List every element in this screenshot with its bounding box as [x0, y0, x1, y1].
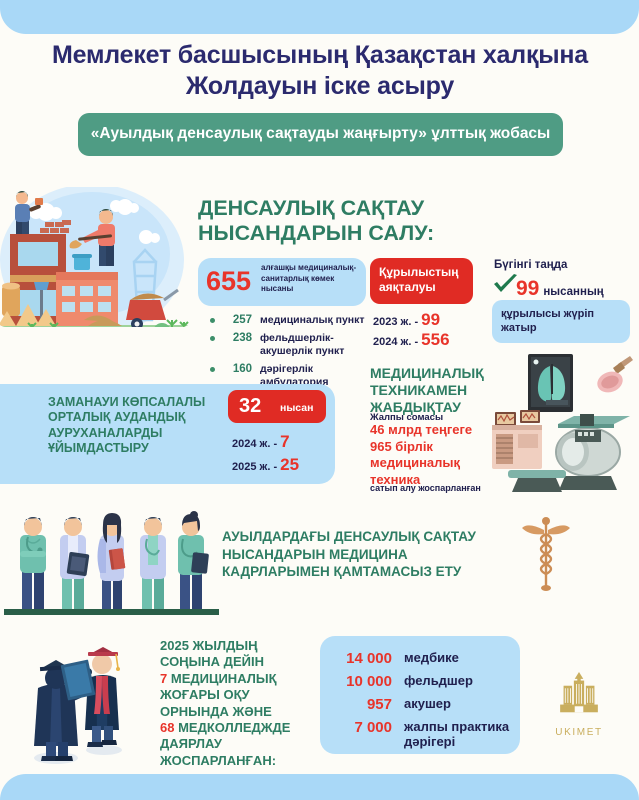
today-value: 99	[516, 277, 539, 301]
training-stats-panel: 14 000 медбике 10 000 фельдшер 957 акуше…	[320, 636, 520, 754]
training-line-1: 2025 ЖЫЛДЫҢ	[160, 638, 258, 653]
list-item: 238 фельдшерлік-акушерлік пункт	[206, 330, 376, 357]
training-line-5: ОРНЫНДА ЖӘНЕ	[160, 704, 272, 719]
today-progress-line: 99 нысанның	[492, 274, 604, 301]
bullet-dot-icon	[210, 367, 215, 372]
medical-staff-illustration	[4, 505, 219, 615]
breakdown-label: фельдшерлік-акушерлік пункт	[260, 332, 376, 357]
bullet-dot-icon	[210, 336, 215, 341]
stat-value: 10 000	[320, 673, 392, 690]
hospitals-year-value: 25	[280, 455, 299, 474]
training-line-7: ДАЯРЛАУ	[160, 736, 222, 751]
stat-label: медбике	[404, 650, 459, 665]
top-accent-band	[0, 0, 639, 34]
today-note: құрылысы жүріп жатыр	[492, 300, 630, 343]
stat-value: 14 000	[320, 650, 392, 667]
total-facilities-card: 655 алғашқы медициналық-санитарлық көмек…	[198, 258, 366, 306]
stat-value: 7 000	[320, 719, 392, 736]
hospitals-year-row: 2024 ж. - 7	[232, 432, 290, 452]
hospitals-badge-label: нысан	[280, 402, 313, 414]
facility-breakdown-list: 257 медициналық пункт 238 фельдшерлік-ак…	[206, 312, 376, 392]
completion-year-row: 2024 ж. - 556	[373, 330, 450, 350]
training-line-4: ЖОҒАРЫ ОҚУ	[160, 687, 250, 702]
list-item: 257 медициналық пункт	[206, 312, 376, 326]
stat-label: акушер	[404, 696, 451, 711]
staffing-heading: АУЫЛДАРДАҒЫ ДЕНСАУЛЫҚ САҚТАУ НЫСАНДАРЫН …	[222, 528, 497, 581]
hospitals-year-row: 2025 ж. - 25	[232, 455, 299, 475]
bottom-accent-band	[0, 774, 639, 800]
table-row: 7 000 жалпы практика дәрігері	[320, 719, 520, 749]
table-row: 14 000 медбике	[320, 650, 520, 667]
completion-badge: Құрылыстың аяқталуы	[370, 258, 473, 304]
breakdown-value: 160	[222, 363, 252, 375]
construction-illustration	[0, 182, 192, 367]
training-line-3: МЕДИЦИНАЛЫҚ	[171, 671, 277, 686]
caduceus-icon	[520, 512, 572, 594]
today-suffix: нысанның	[543, 286, 603, 298]
page-title: Мемлекет басшысының Қазақстан халқына Жо…	[40, 40, 600, 101]
table-row: 10 000 фельдшер	[320, 673, 520, 690]
stat-value: 957	[320, 696, 392, 713]
completion-year-label: 2023 ж. -	[373, 316, 418, 328]
check-icon	[492, 274, 519, 295]
hospitals-year-value: 7	[280, 432, 289, 451]
total-facilities-label: алғашқы медициналық-санитарлық көмек ныс…	[261, 263, 361, 295]
breakdown-label: медициналық пункт	[260, 314, 365, 326]
hospitals-heading: ЗАМАНАУИ КӨПСАЛАЛЫ ОРТАЛЫҚ АУДАНДЫҚ АУРУ…	[48, 395, 223, 456]
completion-year-value: 99	[421, 310, 440, 329]
training-universities-count: 7	[160, 671, 167, 686]
hospitals-year-label: 2024 ж. -	[232, 438, 277, 450]
government-building-icon	[553, 672, 605, 720]
equipment-footnote: сатып алу жоспарланған	[370, 483, 481, 493]
hospitals-badge: 32 нысан	[228, 390, 326, 423]
graduates-illustration	[8, 638, 138, 768]
table-row: 957 акушер	[320, 696, 520, 713]
training-line-8: ЖОСПАРЛАНҒАН:	[160, 753, 276, 768]
build-section-heading: ДЕНСАУЛЫҚ САҚТАУ НЫСАНДАРЫН САЛУ:	[198, 196, 498, 246]
subtitle-banner: «Ауылдық денсаулық сақтауды жаңғырту» ұл…	[78, 113, 563, 156]
training-line-2: СОҢЫНА ДЕЙІН	[160, 654, 264, 669]
today-label: Бүгінгі таңда	[494, 259, 567, 271]
completion-year-row: 2023 ж. - 99	[373, 310, 440, 330]
stat-label: жалпы практика дәрігері	[404, 719, 520, 749]
total-facilities-value: 655	[206, 266, 251, 297]
hospitals-badge-value: 32	[239, 395, 261, 418]
medical-equipment-illustration	[470, 352, 635, 497]
stat-label: фельдшер	[404, 673, 473, 688]
completion-year-value: 556	[421, 330, 449, 349]
training-line-6: МЕДКОЛЛЕДЖДЕ	[178, 720, 290, 735]
breakdown-value: 257	[222, 314, 252, 326]
branding-logo: UKIMET	[542, 672, 616, 738]
breakdown-value: 238	[222, 332, 252, 344]
bullet-dot-icon	[210, 318, 215, 323]
training-heading: 2025 ЖЫЛДЫҢ СОҢЫНА ДЕЙІН 7 МЕДИЦИНАЛЫҚ Ж…	[160, 638, 320, 769]
brand-name: UKIMET	[542, 727, 616, 738]
hospitals-year-label: 2025 ж. -	[232, 461, 277, 473]
completion-year-label: 2024 ж. -	[373, 336, 418, 348]
training-colleges-count: 68	[160, 720, 174, 735]
